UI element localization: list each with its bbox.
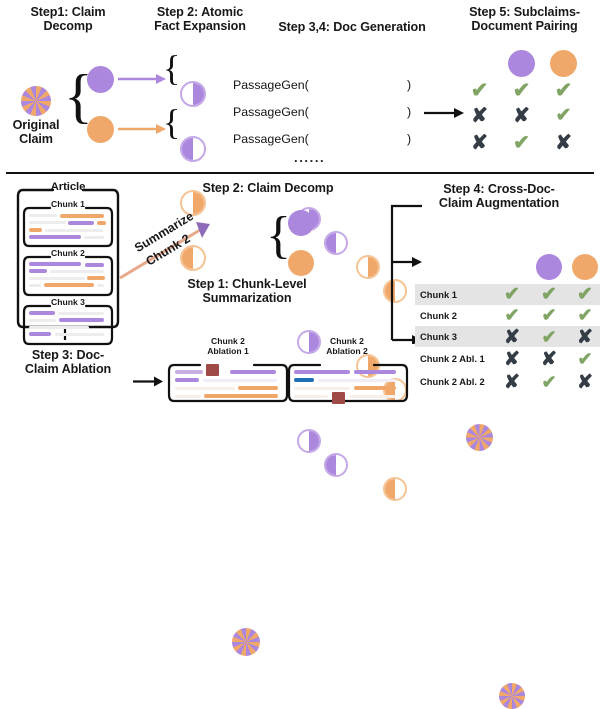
chunk-2-textline: [44, 283, 94, 287]
table-row-label: Chunk 1: [420, 289, 457, 300]
atomic-fact-purple-right: .apr::before{background:#ab87de;}: [180, 81, 206, 107]
augmentation-mark-r3c1: ✘: [499, 328, 525, 347]
ablation-2-textline: [354, 370, 396, 374]
passagegen-3-fact-purple-right: [297, 429, 321, 453]
ablation-1-textline: [203, 379, 277, 382]
pinwheel-icon-chunk-claim: [232, 628, 260, 656]
title-step3-4: Step 3,4: Doc Generation: [252, 20, 452, 34]
ablation-2-textline: [354, 386, 396, 390]
ablation-1-textline: [175, 370, 203, 374]
augmentation-mark-r2c3: ✔: [572, 306, 598, 324]
chunk-1-textline: [29, 228, 42, 232]
passagegen-3-fact-orange-left: [383, 477, 407, 501]
bottom-subclaim-circle-purple: [288, 210, 314, 236]
pairing-mark-r2c2: ✘: [508, 106, 535, 126]
brace-bottom-claim-decomp: {: [266, 210, 291, 262]
bottom-subclaim-circle-orange: [288, 250, 314, 276]
arrow-step3-to-ablations: [133, 375, 163, 388]
augmentation-mark-r4c2: ✘: [536, 350, 562, 369]
title-bottom-step3: Step 3: Doc- Claim Ablation: [4, 348, 132, 376]
table-row-label: Chunk 3: [420, 331, 457, 342]
augmentation-mark-r1c3: ✔: [572, 285, 598, 304]
orange-circle-augmentation-header: [572, 254, 598, 280]
ablation-1-textline: [175, 395, 201, 398]
passagegen-close-row-3: ): [407, 132, 411, 146]
pairing-mark-r2c1: ✘: [466, 106, 493, 126]
arrow-expand-orange: [118, 122, 166, 136]
augmentation-mark-r1c1: ✔: [499, 285, 525, 304]
atomic-fact-purple-left: [180, 136, 206, 162]
chunk-3-textline: [29, 311, 55, 315]
chunk-2-textline: [29, 269, 47, 273]
pinwheel-icon-original-claim: [21, 86, 51, 116]
passagegen-label-row-3: PassageGen(: [233, 132, 309, 146]
pairing-mark-r1c3: ✔: [550, 80, 577, 101]
augmentation-mark-r1c2: ✔: [536, 285, 562, 304]
chunk-1-textline: [97, 221, 106, 225]
chunk-2-textline: [87, 276, 105, 280]
pinwheel-icon-augmentation-header: [499, 683, 525, 709]
chunk-2-textline: [85, 263, 104, 267]
label-chunk-2: Chunk 2: [43, 248, 93, 258]
chunk-2-textline: [97, 284, 104, 287]
purple-circle-augmentation-header: [536, 254, 562, 280]
pinwheel-icon-pairing-header: [466, 424, 493, 451]
title-bottom-step4: Step 4: Cross-Doc- Claim Augmentation: [404, 182, 594, 210]
passagegen-close-row-2: ): [407, 105, 411, 119]
augmentation-mark-r4c3: ✔: [572, 350, 598, 368]
brace-atomic-orange: {: [163, 104, 180, 140]
purple-circle-pairing-header: [508, 50, 535, 77]
label-article: Article: [38, 181, 98, 194]
chunk-3-textline: [59, 318, 104, 322]
subclaim-circle-purple: [87, 66, 114, 93]
pairing-mark-r3c2: ✔: [508, 133, 535, 153]
ablation-2-textline: [349, 395, 396, 398]
label-original-claim: Original Claim: [0, 118, 72, 146]
pairing-mark-r1c1: ✔: [466, 80, 493, 101]
augmentation-mark-r5c3: ✘: [572, 373, 598, 392]
ablation-2-textline: [294, 387, 350, 390]
brace-atomic-purple: {: [163, 50, 180, 86]
passagegen-3-fact-purple-left: [324, 453, 348, 477]
label-ablation-1: Chunk 2 Ablation 1: [188, 336, 268, 357]
augmentation-mark-r3c3: ✘: [572, 328, 598, 347]
chunk-3-textline: [29, 319, 56, 322]
chunk-2-textline: [29, 284, 41, 287]
chunk-1-textline: [29, 214, 57, 217]
title-step2: Step 2: Atomic Fact Expansion: [131, 5, 269, 33]
ablation-1-textline: [204, 394, 278, 398]
subclaim-circle-orange: [87, 116, 114, 143]
chunk-1-textline: [60, 214, 104, 218]
title-bottom-step2: Step 2: Claim Decomp: [168, 181, 368, 195]
ablation-1-textline: [175, 378, 199, 382]
passagegen-ellipsis: ......: [294, 150, 325, 165]
chunk-1-textline: [29, 221, 66, 224]
chunk-2-textline: [50, 270, 104, 273]
label-chunk-1: Chunk 1: [43, 199, 93, 209]
pairing-mark-r1c2: ✔: [508, 80, 535, 101]
ablation-1-redaction-marker: [206, 364, 219, 376]
arrow-expand-purple: [118, 72, 166, 86]
orange-circle-pairing-header: [550, 50, 577, 77]
passagegen-label-row-2: PassageGen(: [233, 105, 309, 119]
passagegen-close-row-1: ): [407, 78, 411, 92]
label-chunk-3: Chunk 3: [43, 297, 93, 307]
ablation-1-textline: [238, 386, 278, 390]
chunk-1-textline: [68, 221, 94, 225]
pairing-mark-r3c1: ✘: [466, 133, 493, 153]
chunk-1-textline: [84, 236, 104, 239]
augmentation-mark-r4c1: ✘: [499, 350, 525, 369]
ablation-2-textline: [294, 370, 350, 374]
augmentation-mark-r5c2: ✔: [536, 373, 562, 391]
chunk-1-textline: [29, 235, 81, 239]
pairing-mark-r2c3: ✔: [550, 106, 577, 125]
table-row-label: Chunk 2: [420, 310, 457, 321]
chunk-2-textline: [29, 262, 81, 266]
passagegen-1-fact-orange-right: [356, 255, 380, 279]
ablation-1-textline: [175, 387, 235, 390]
chunk-3-textline: [29, 326, 89, 329]
ablation-2-textline: [294, 395, 328, 398]
title-step5: Step 5: Subclaims- Document Pairing: [449, 5, 600, 33]
ablation-2-textline: [294, 378, 314, 382]
panel-divider: [6, 172, 594, 174]
diagram-canvas: Step1: Claim Decomp Step 2: Atomic Fact …: [0, 0, 600, 406]
chunk-3-textline: [58, 312, 104, 315]
chunk-2-textline: [29, 277, 85, 280]
pairing-mark-r3c3: ✘: [550, 133, 577, 153]
table-row-label: Chunk 2 Abl. 1: [420, 353, 485, 364]
ablation-1-textline: [230, 370, 276, 374]
title-bottom-step1: Step 1: Chunk-Level Summarization: [155, 277, 339, 305]
chunk-1-bracket: [22, 204, 114, 250]
ablation-2-textline: [318, 379, 396, 382]
ablation-2-redaction-marker: [332, 392, 345, 404]
augmentation-mark-r2c2: ✔: [536, 306, 562, 324]
title-step1: Step1: Claim Decomp: [6, 5, 130, 33]
ablation-1-bracket: [166, 362, 290, 406]
label-ablation-2: Chunk 2 Ablation 2: [307, 336, 387, 357]
passagegen-1-fact-purple-left: [324, 231, 348, 255]
arrow-to-pairing: [424, 106, 464, 120]
augmentation-mark-r5c1: ✘: [499, 373, 525, 392]
chunk-3-textline: [29, 332, 51, 336]
ablation-2-bracket: [286, 362, 410, 406]
augmentation-mark-r3c2: ✔: [536, 328, 562, 346]
passagegen-label-row-1: PassageGen(: [233, 78, 309, 92]
chunk-1-textline: [45, 229, 103, 232]
connector-to-augmentation-table: [386, 204, 428, 344]
connector-article-to-step3: [62, 329, 68, 345]
table-row-label: Chunk 2 Abl. 2: [420, 376, 485, 387]
augmentation-mark-r2c1: ✔: [499, 306, 525, 324]
